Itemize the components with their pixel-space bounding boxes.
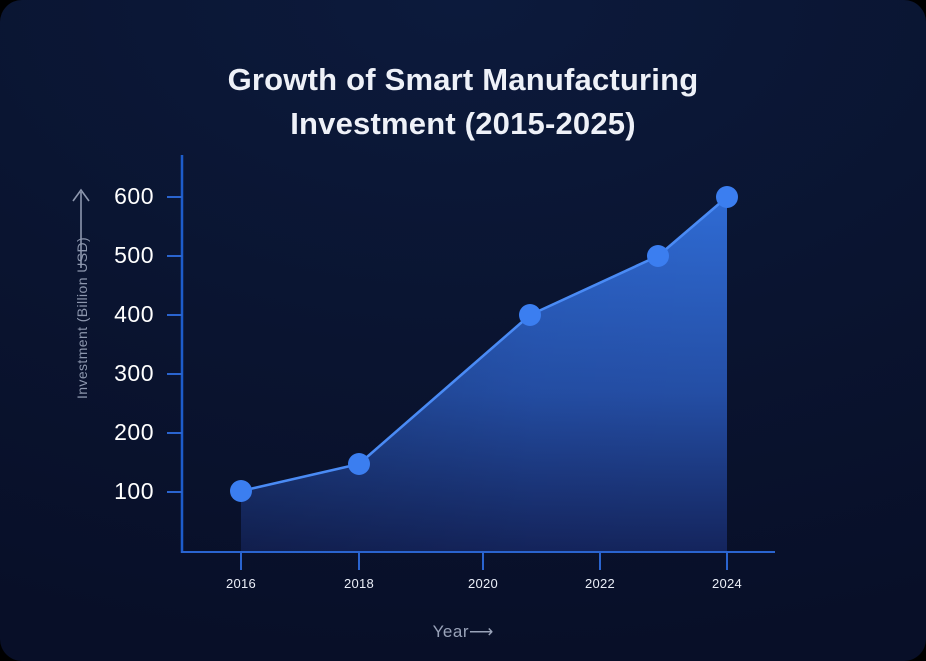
- data-point-marker[interactable]: [519, 304, 541, 326]
- y-axis-title-text: Investment (Billion USD): [74, 188, 90, 448]
- arrow-right-icon: ⟶: [469, 622, 493, 641]
- x-tick-label: 2022: [570, 576, 630, 591]
- line-area-chart: [0, 0, 926, 661]
- x-tick-label: 2020: [453, 576, 513, 591]
- x-axis-title-text: Year: [433, 622, 469, 641]
- data-point-marker[interactable]: [348, 453, 370, 475]
- data-point-marker[interactable]: [647, 245, 669, 267]
- y-tick-marks: [167, 197, 182, 492]
- chart-card: Growth of Smart Manufacturing Investment…: [0, 0, 926, 661]
- x-tick-label: 2016: [211, 576, 271, 591]
- data-point-marker[interactable]: [230, 480, 252, 502]
- x-axis-title: Year⟶: [0, 622, 926, 642]
- x-tick-label: 2024: [697, 576, 757, 591]
- x-tick-label: 2018: [329, 576, 389, 591]
- x-tick-marks: [241, 552, 727, 570]
- data-point-marker[interactable]: [716, 186, 738, 208]
- y-axis-title: Investment (Billion USD): [62, 180, 102, 470]
- y-tick-label: 100: [92, 478, 154, 505]
